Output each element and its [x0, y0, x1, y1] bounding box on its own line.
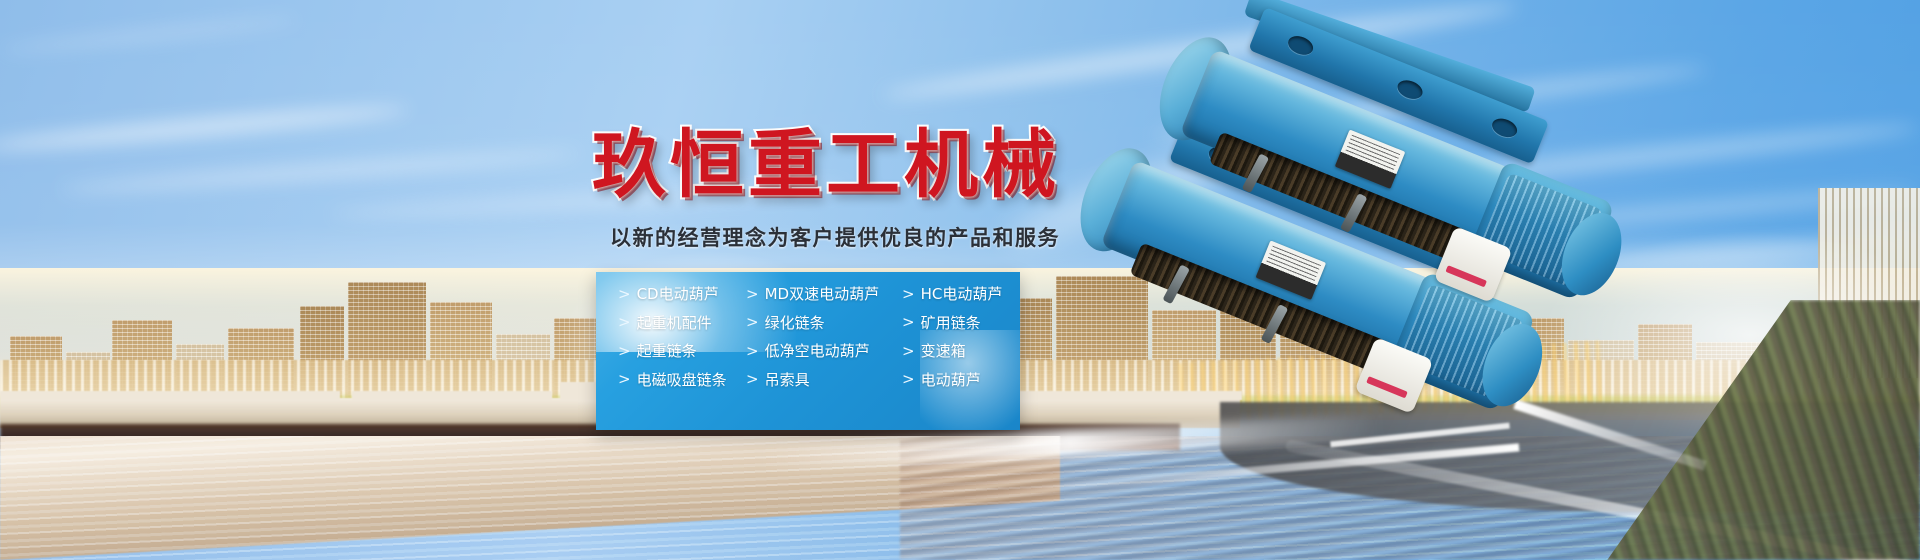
chevron-right-icon: >	[618, 315, 631, 330]
junction-box-label	[1366, 376, 1408, 398]
product-link-label: 电磁吸盘链条	[637, 372, 727, 389]
product-link[interactable]: >变速箱	[902, 343, 1020, 360]
product-link-label: 电动葫芦	[921, 372, 981, 389]
barrier-segment	[0, 391, 340, 400]
product-link[interactable]: >起重链条	[618, 343, 746, 360]
promotional-banner: 玖恒重工机械 以新的经营理念为客户提供优良的产品和服务 >CD电动葫芦>MD双速…	[0, 0, 1920, 560]
company-headline: 玖恒重工机械	[592, 128, 1232, 202]
product-link-label: 绿化链条	[765, 315, 825, 332]
product-links-panel: >CD电动葫芦>MD双速电动葫芦>HC电动葫芦>起重机配件>绿化链条>矿用链条>…	[596, 272, 1020, 430]
cloud-wisp	[60, 147, 580, 196]
product-link[interactable]: >电动葫芦	[902, 372, 1020, 389]
product-link-label: 矿用链条	[921, 315, 981, 332]
product-link[interactable]: >起重机配件	[618, 315, 746, 332]
chevron-right-icon: >	[902, 315, 915, 330]
bracket-hole	[1285, 33, 1315, 59]
chevron-right-icon: >	[902, 344, 915, 359]
product-links-grid: >CD电动葫芦>MD双速电动葫芦>HC电动葫芦>起重机配件>绿化链条>矿用链条>…	[596, 272, 1020, 388]
chevron-right-icon: >	[746, 287, 759, 302]
cloud-wisp	[0, 101, 410, 154]
chevron-right-icon: >	[746, 344, 759, 359]
cloud-wisp	[0, 14, 299, 55]
product-link[interactable]: >MD双速电动葫芦	[746, 286, 902, 303]
product-link[interactable]: >绿化链条	[746, 315, 902, 332]
bracket-hole	[1395, 77, 1425, 103]
chevron-right-icon: >	[746, 315, 759, 330]
product-link-label: 吊索具	[765, 372, 810, 389]
chevron-right-icon: >	[902, 287, 915, 302]
product-link[interactable]: >低净空电动葫芦	[746, 343, 902, 360]
product-link-label: 低净空电动葫芦	[765, 343, 870, 360]
product-link-label: 起重机配件	[637, 315, 712, 332]
product-link-label: HC电动葫芦	[921, 286, 1003, 303]
product-link-label: 起重链条	[637, 343, 697, 360]
product-link-label: CD电动葫芦	[637, 286, 719, 303]
product-link[interactable]: >吊索具	[746, 372, 902, 389]
product-link-label: 变速箱	[921, 343, 966, 360]
chevron-right-icon: >	[618, 287, 631, 302]
chevron-right-icon: >	[618, 372, 631, 387]
chevron-right-icon: >	[746, 372, 759, 387]
product-link[interactable]: >CD电动葫芦	[618, 286, 746, 303]
chevron-right-icon: >	[618, 344, 631, 359]
barrier-segment	[352, 391, 552, 400]
product-link[interactable]: >电磁吸盘链条	[618, 372, 746, 389]
company-subheadline: 以新的经营理念为客户提供优良的产品和服务	[610, 222, 1310, 252]
bracket-hole	[1489, 115, 1519, 141]
product-link[interactable]: >HC电动葫芦	[902, 286, 1020, 303]
product-link[interactable]: >矿用链条	[902, 315, 1020, 332]
product-link-label: MD双速电动葫芦	[765, 286, 880, 303]
junction-box-label	[1445, 265, 1487, 287]
chevron-right-icon: >	[902, 372, 915, 387]
